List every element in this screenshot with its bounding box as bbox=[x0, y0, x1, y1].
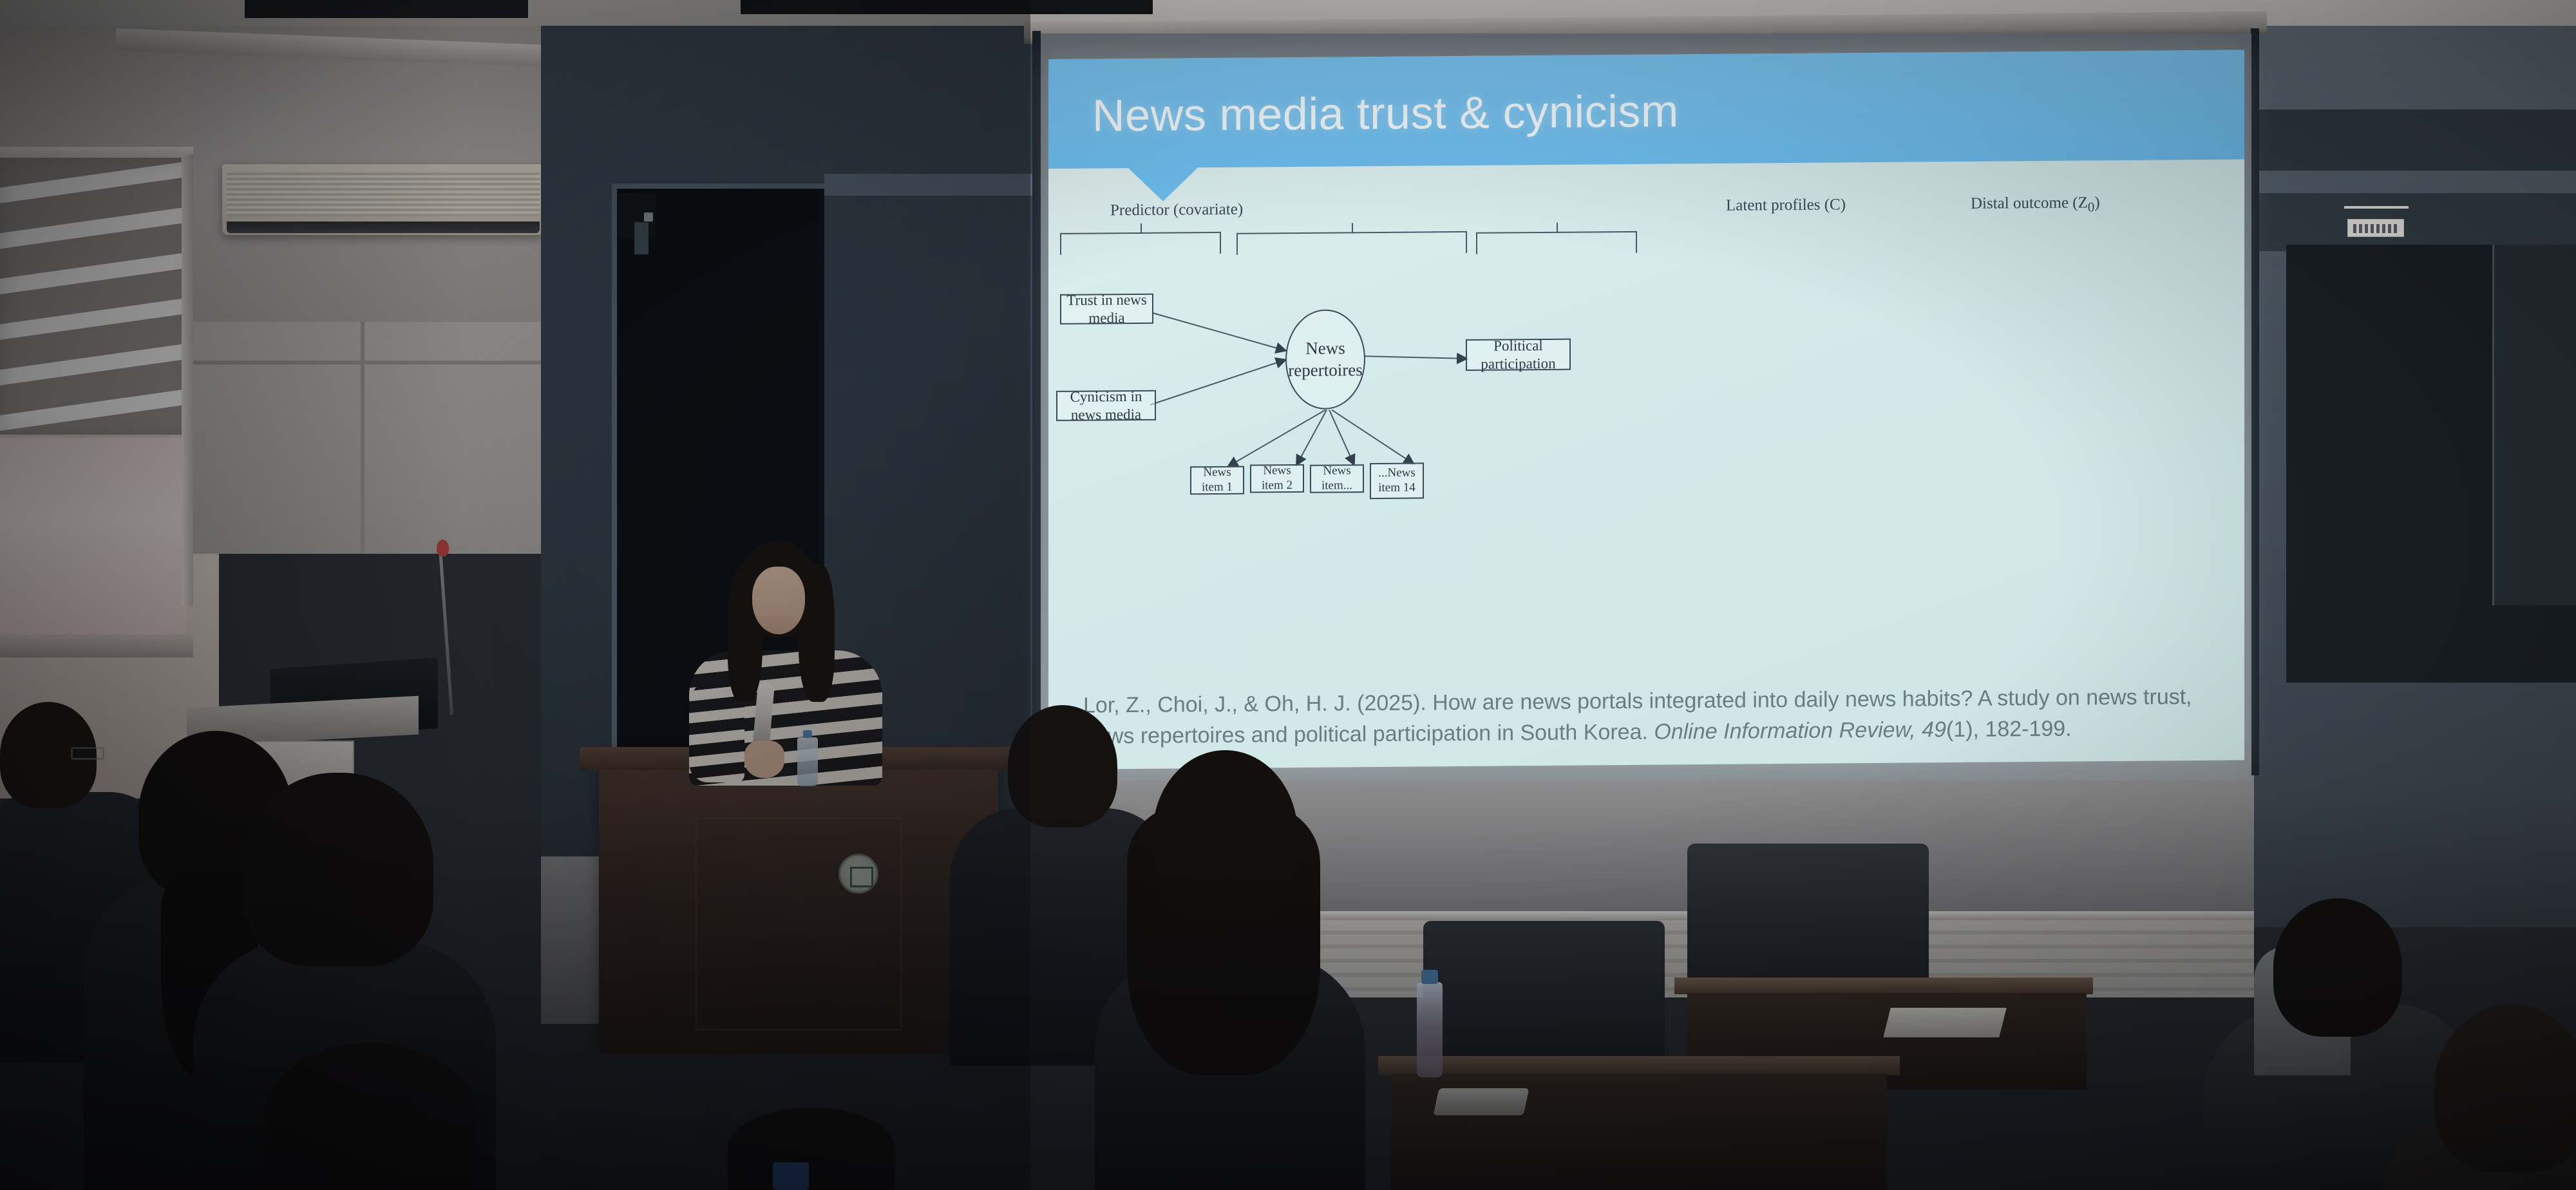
podium-front-panel bbox=[696, 818, 902, 1030]
group-label-distal: Distal outcome (Z0) bbox=[1971, 194, 2100, 216]
group-label-distal-text: Distal outcome (Z bbox=[1971, 194, 2088, 212]
presenter-hand bbox=[744, 741, 784, 778]
smartphone-screen bbox=[773, 1162, 809, 1190]
node-news-repertoires: News repertoires bbox=[1285, 309, 1365, 410]
wall-switch-plate[interactable] bbox=[634, 222, 649, 254]
wall-tile-seam-horizontal bbox=[193, 361, 541, 364]
audience-member-head bbox=[728, 1108, 895, 1190]
path-diagram: Predictor (covariate) Latent profiles (C… bbox=[1048, 159, 2244, 677]
window-lower-pane bbox=[0, 438, 187, 644]
audience-member-head bbox=[1153, 750, 1298, 918]
group-label-distal-sub: 0 bbox=[2088, 199, 2094, 214]
ceiling-panel-center bbox=[741, 0, 1153, 14]
audience-member-head bbox=[1008, 705, 1117, 827]
wall-tile-seam-vertical bbox=[361, 322, 365, 554]
right-wall-band-lower bbox=[2248, 193, 2576, 251]
citation-journal: Online Information Review, 49 bbox=[1654, 717, 1946, 744]
air-conditioner-vent bbox=[227, 222, 540, 233]
brace-distal bbox=[1476, 231, 1637, 254]
exit-sign bbox=[2347, 219, 2404, 237]
node-news-repertoires-line2: repertoires bbox=[1288, 359, 1362, 382]
microphone-stand bbox=[439, 547, 453, 715]
microphone-head-icon bbox=[437, 540, 449, 556]
chair-back-row bbox=[1687, 844, 1929, 992]
node-political-participation: Political participation bbox=[1466, 339, 1571, 371]
air-conditioner-grill bbox=[227, 173, 540, 216]
water-bottle-desk bbox=[1417, 982, 1443, 1077]
screen-edge-right bbox=[2251, 28, 2259, 775]
citation-text-part2: (1), 182-199. bbox=[1946, 717, 2072, 742]
sign-light-strip bbox=[2344, 206, 2409, 209]
ceiling-panel-left bbox=[245, 0, 528, 18]
node-news-item-2: News item 2 bbox=[1250, 464, 1304, 493]
smartphone-on-desk bbox=[1434, 1088, 1529, 1115]
node-trust-in-news-media: Trust in news media bbox=[1060, 294, 1153, 325]
diagram-connectors bbox=[1048, 159, 2244, 677]
slide-citation: Lor, Z., Choi, J., & Oh, H. J. (2025). H… bbox=[1083, 681, 2210, 752]
group-label-latent: Latent profiles (C) bbox=[1726, 196, 1846, 214]
paper-on-desk bbox=[1883, 1008, 2006, 1037]
right-wall-column bbox=[2492, 245, 2576, 605]
brace-latent bbox=[1236, 231, 1467, 255]
wall-indicator-light bbox=[644, 212, 653, 222]
right-wall-band-upper bbox=[2248, 109, 2576, 171]
node-news-item-1: News item 1 bbox=[1190, 466, 1244, 495]
node-news-repertoires-line1: News bbox=[1305, 337, 1345, 359]
window-blinds[interactable] bbox=[0, 158, 193, 435]
water-bottle-cap bbox=[1421, 970, 1438, 984]
window-sill bbox=[0, 634, 193, 657]
desk-front-row bbox=[1378, 1056, 1900, 1075]
group-label-distal-suffix: ) bbox=[2094, 194, 2099, 211]
node-cynicism-in-news-media: Cynicism in news media bbox=[1056, 390, 1156, 421]
node-news-item-14: ...News item 14 bbox=[1370, 462, 1424, 499]
slide-title: News media trust & cynicism bbox=[1092, 85, 1679, 141]
node-news-item-14-line1: ...News bbox=[1378, 466, 1416, 481]
university-crest-icon bbox=[838, 854, 878, 894]
node-news-item-ellipsis: News item... bbox=[1310, 464, 1364, 493]
audience-member-head bbox=[2434, 1005, 2576, 1172]
desk-middle-row bbox=[1674, 977, 2093, 994]
presenter-face bbox=[752, 567, 805, 634]
wall-tile-panel bbox=[193, 322, 541, 554]
audience-member-head bbox=[2273, 898, 2402, 1037]
audience-member-head bbox=[243, 773, 433, 966]
node-news-item-14-line2: item 14 bbox=[1378, 481, 1416, 496]
screen-edge-left bbox=[1032, 31, 1041, 778]
eyeglasses-icon bbox=[71, 747, 104, 760]
water-bottle-podium bbox=[797, 737, 818, 786]
presentation-slide: News media trust & cynicism Predictor (c… bbox=[1048, 50, 2244, 770]
audience-member-head bbox=[264, 1043, 477, 1190]
lecture-hall-scene: News media trust & cynicism Predictor (c… bbox=[0, 0, 2576, 1190]
brace-predictor bbox=[1060, 232, 1221, 255]
group-label-predictor: Predictor (covariate) bbox=[1110, 201, 1243, 220]
window-frame bbox=[182, 155, 193, 605]
